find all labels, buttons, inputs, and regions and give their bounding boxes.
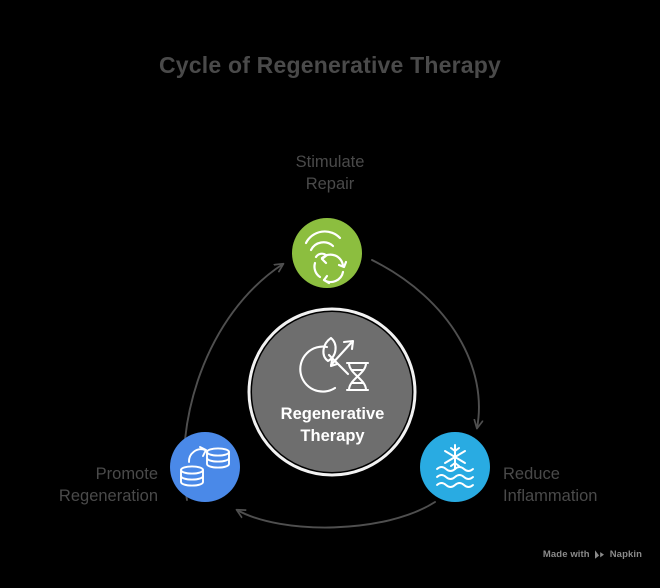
- center-node[interactable]: [249, 309, 415, 475]
- node-promote-regeneration[interactable]: [170, 432, 240, 502]
- diagram-canvas: Cycle of Regenerative Therapy: [0, 0, 660, 588]
- node-label-stimulate-repair: Stimulate Repair: [243, 152, 417, 196]
- watermark-prefix: Made with: [543, 549, 590, 560]
- arrow-reduce-to-promote: [237, 502, 435, 528]
- watermark-brand: Napkin: [610, 549, 642, 560]
- node-promote-regeneration-circle: [170, 432, 240, 502]
- node-reduce-inflammation[interactable]: [420, 432, 490, 502]
- center-node-circle: [252, 312, 412, 472]
- napkin-logo-icon: [594, 549, 606, 560]
- node-label-promote-regeneration: Promote Regeneration: [8, 464, 158, 508]
- napkin-watermark[interactable]: Made with Napkin: [543, 549, 642, 560]
- node-stimulate-repair[interactable]: [292, 218, 362, 288]
- node-label-reduce-inflammation: Reduce Inflammation: [503, 464, 653, 508]
